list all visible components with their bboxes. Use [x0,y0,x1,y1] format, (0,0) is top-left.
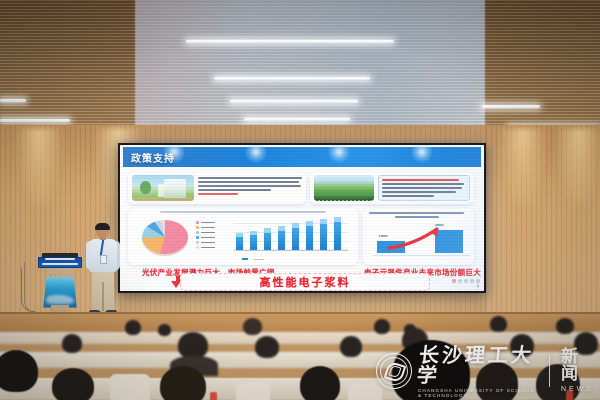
footer-icon [470,279,474,283]
lecture-hall-scene: 政策支持 [0,0,600,400]
slide-panel-components: 215000 338000 [363,208,474,265]
pie-chart [142,220,188,254]
title-bar-glow [411,145,433,163]
slide-footer-icons [452,279,480,283]
bar-chart [224,219,348,256]
audience-head [490,316,507,332]
news-label-cn: 新闻 [561,349,594,383]
pie-chart-legend [196,221,215,251]
intro-body-text [198,177,302,197]
podium-sign-line [42,263,78,265]
seat-back [236,382,270,400]
podium-sign-line [45,258,75,260]
audience-head [300,366,340,400]
speaker-hair [95,223,110,230]
chart-axis [373,255,470,256]
components-chart-title [369,212,468,220]
seat-back [110,374,150,400]
audience-head [340,336,362,357]
audience-head [52,368,94,400]
footer-icon [464,279,468,283]
projection-screen-frame: 政策支持 [118,143,486,293]
audience-head [556,318,574,334]
news-watermark: 长沙理工大学 CHANGSHA UNIVERSITY OF SCIENCE & … [376,348,594,394]
audience-head [62,334,82,353]
university-name-cn: 长沙理工大学 [416,345,540,385]
audience-head [374,319,390,334]
audience-head [158,324,171,336]
ceiling-light-strip [0,119,70,122]
title-bar-glow [328,145,350,163]
slide-title-bar: 政策支持 [123,147,481,167]
conclusion-box: 高性能电子浆料 [180,273,430,291]
university-name-en: CHANGSHA UNIVERSITY OF SCIENCE & TECHNOL… [418,388,538,398]
audience-head [178,332,208,358]
audience-head [243,318,262,335]
report-quote-box [378,175,470,201]
news-label-block: 新闻 NEWS [561,349,594,393]
audience-head [255,336,279,358]
ceiling-light-strip [186,40,394,43]
footer-icon [458,279,462,283]
footer-icon [452,279,456,283]
podium-sign [38,257,82,268]
audience-head [0,350,38,392]
ceiling-light-strip [0,99,26,102]
photo-caption-strip [314,200,374,203]
green-landscape-photo [314,175,374,201]
id-badge-icon [100,255,107,264]
slide-page-number: 4 [476,284,479,290]
growth-arrow-icon [387,226,447,250]
panel-mini-title [128,211,358,214]
eco-photo-thumbnail [132,175,194,201]
conclusion-text: 高性能电子浆料 [260,274,351,290]
audience-head [125,320,141,335]
audience-head [160,366,206,400]
ceiling-light-strip [244,118,350,121]
podium-body [47,268,73,274]
tree-shape [140,181,151,194]
back-wall-right-panel [486,125,600,315]
university-emblem-icon [376,353,412,389]
ceiling-light-strip [214,77,370,80]
slide-card-report [310,172,474,204]
ceiling-light-strip [230,100,358,103]
watermark-divider [549,355,550,387]
bar-chart-legend [242,258,264,260]
water-bottle [210,392,217,400]
presentation-slide: 政策支持 [120,145,484,291]
slide-card-intro [128,172,306,204]
projection-screen: 政策支持 [120,145,484,291]
podium-monitor-screen [43,277,76,308]
footer-icon [476,279,480,283]
ceiling-center-panel [135,0,485,128]
ceiling-light-strip [482,105,540,108]
news-label-en: NEWS [561,386,594,393]
title-bar-glow [245,145,267,163]
university-name-block: 长沙理工大学 CHANGSHA UNIVERSITY OF SCIENCE & … [418,345,538,398]
slide-panel-photovoltaic [128,208,358,265]
slide-title: 政策支持 [131,150,175,165]
